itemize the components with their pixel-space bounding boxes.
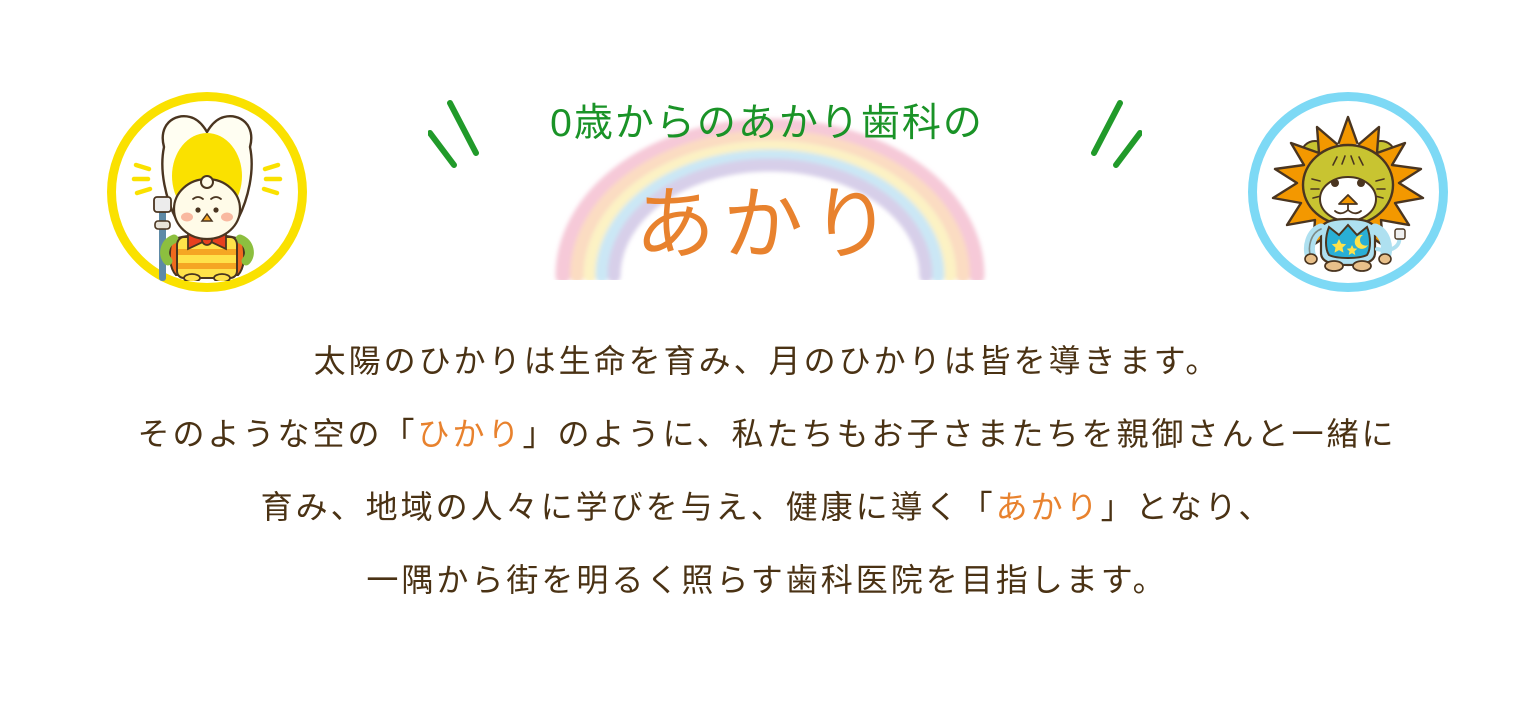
text-run: 」のように、私たちもお子さまたちを親御さんと一緒に bbox=[522, 416, 1396, 452]
philosophy-line: 太陽のひかりは生命を育み、月のひかりは皆を導きます。 bbox=[0, 325, 1534, 398]
text-run: 」となり、 bbox=[1101, 489, 1274, 525]
philosophy-line: 一隅から街を明るく照らす歯科医院を目指します。 bbox=[0, 544, 1534, 617]
philosophy-line: そのような空の「ひかり」のように、私たちもお子さまたちを親御さんと一緒に bbox=[0, 398, 1534, 471]
page-root: 0歳からのあかり歯科の あかり 太陽のひかりは生命を育み、月のひかりは皆を導きま… bbox=[0, 0, 1534, 720]
highlighted-keyword: ひかり bbox=[417, 416, 522, 452]
page-title: あかり bbox=[0, 185, 1534, 265]
header-subtitle: 0歳からのあかり歯科の bbox=[0, 104, 1534, 143]
text-run: 育み、地域の人々に学びを与え、健康に導く「 bbox=[261, 489, 996, 525]
philosophy-line: 育み、地域の人々に学びを与え、健康に導く「あかり」となり、 bbox=[0, 471, 1534, 544]
philosophy-text-block: 太陽のひかりは生命を育み、月のひかりは皆を導きます。 そのような空の「ひかり」の… bbox=[0, 325, 1534, 617]
text-run: そのような空の「 bbox=[137, 416, 417, 452]
text-run: 一隅から街を明るく照らす歯科医院を目指します。 bbox=[366, 562, 1167, 598]
text-run: 太陽のひかりは生命を育み、月のひかりは皆を導きます。 bbox=[314, 343, 1221, 379]
highlighted-keyword: あかり bbox=[996, 489, 1101, 525]
